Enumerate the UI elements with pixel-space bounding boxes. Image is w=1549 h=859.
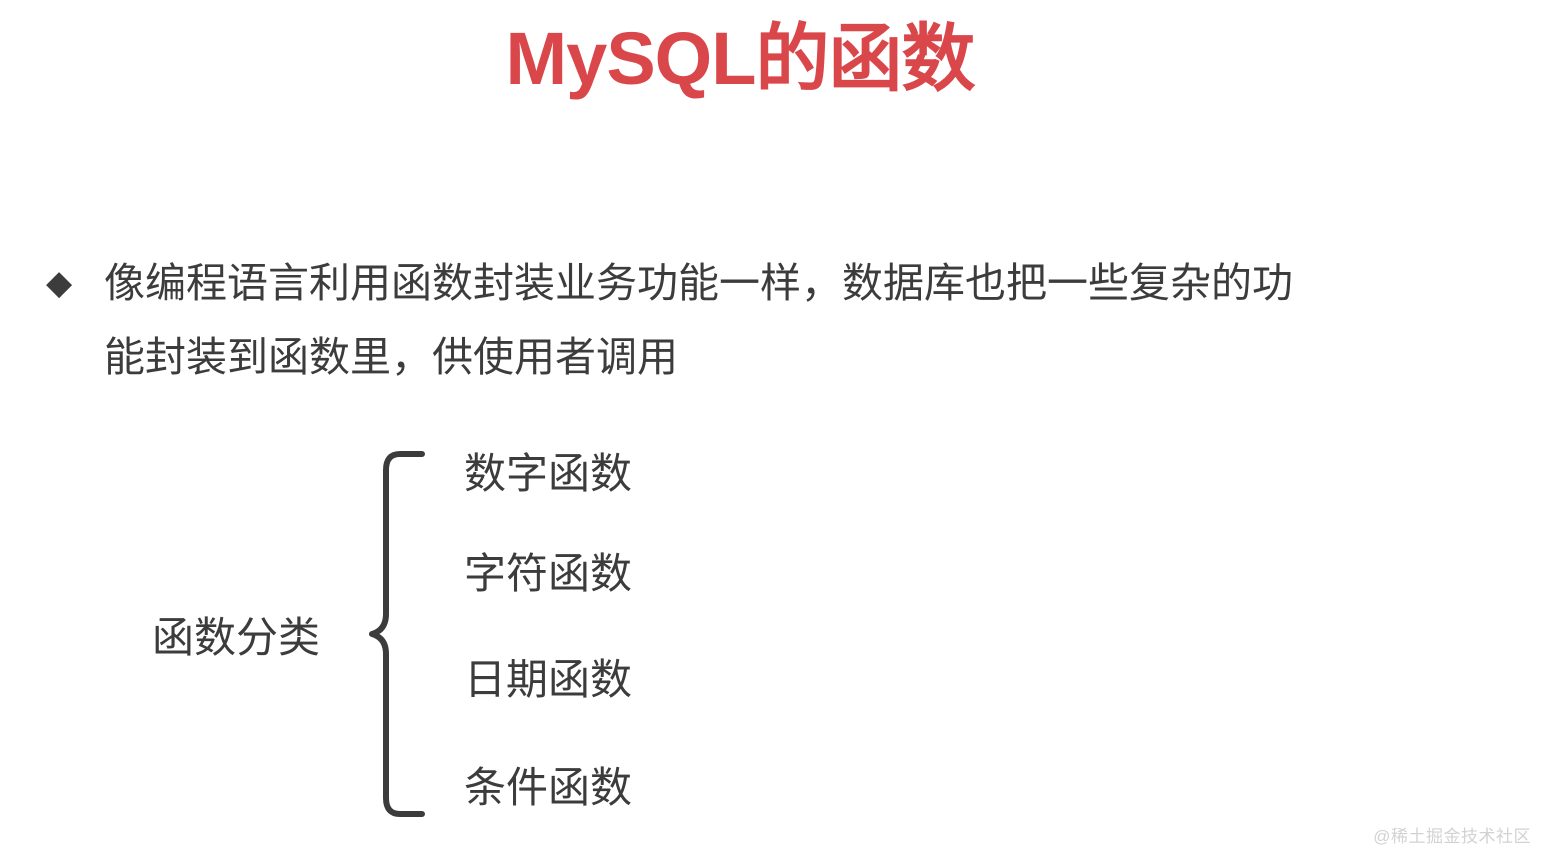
diagram-item-date-functions: 日期函数 [464, 652, 632, 708]
diagram-item-numeric-functions: 数字函数 [464, 446, 632, 502]
diagram-item-string-functions: 字符函数 [464, 546, 632, 602]
bullet-row: ◆ 像编程语言利用函数封装业务功能一样，数据库也把一些复杂的功 能封装到函数里，… [46, 246, 1506, 394]
watermark: @稀土掘金技术社区 [1373, 825, 1531, 849]
bullet-paragraph: ◆ 像编程语言利用函数封装业务功能一样，数据库也把一些复杂的功 能封装到函数里，… [46, 246, 1506, 394]
bullet-line-1: 像编程语言利用函数封装业务功能一样，数据库也把一些复杂的功 [104, 246, 1506, 320]
slide-canvas: MySQL的函数 ◆ 像编程语言利用函数封装业务功能一样，数据库也把一些复杂的功… [0, 0, 1549, 859]
bullet-line-2: 能封装到函数里，供使用者调用 [104, 320, 1506, 394]
diagram-label: 函数分类 [132, 610, 340, 666]
function-category-diagram: 函数分类 数字函数 字符函数 日期函数 条件函数 [120, 440, 880, 830]
diagram-item-list: 数字函数 字符函数 日期函数 条件函数 [464, 440, 864, 830]
diagram-item-conditional-functions: 条件函数 [464, 760, 632, 816]
bullet-text: 像编程语言利用函数封装业务功能一样，数据库也把一些复杂的功 能封装到函数里，供使… [104, 246, 1506, 394]
diamond-bullet-icon: ◆ [46, 246, 104, 320]
curly-brace-icon [348, 448, 428, 820]
page-title: MySQL的函数 [0, 18, 1480, 101]
